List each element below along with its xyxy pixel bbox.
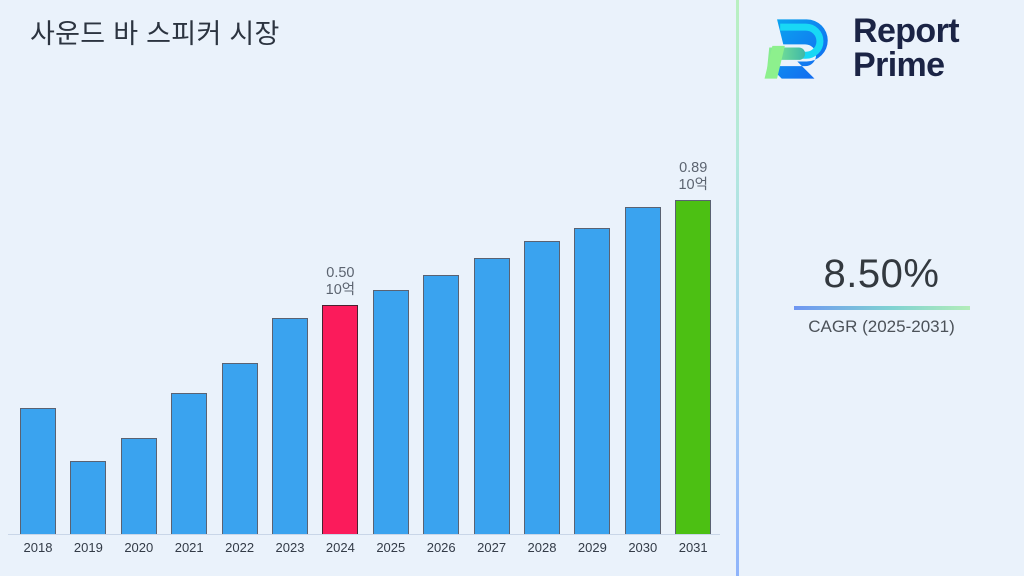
report-prime-r-logo-icon [763, 10, 841, 88]
brand-name: Report Prime [853, 15, 959, 82]
chart-panel: 사운드 바 스피커 시장 0.5010억0.8910억 201820192020… [0, 0, 737, 576]
cagr-divider-rule [794, 306, 970, 310]
brand-name-line2: Prime [853, 46, 945, 84]
bar-value-label-2031: 0.8910억 [678, 160, 707, 195]
bar-2018[interactable] [20, 408, 56, 534]
bar-rect-2031[interactable] [675, 200, 711, 534]
brand-panel: Report Prime 8.50% CAGR (2025-2031) [739, 0, 1024, 576]
bar-rect-2020[interactable] [121, 438, 157, 534]
x-tick-2026: 2026 [423, 540, 459, 555]
cagr-value: 8.50% [739, 252, 1024, 297]
bar-2022[interactable] [222, 363, 258, 534]
bar-2023[interactable] [272, 318, 308, 534]
x-tick-2025: 2025 [373, 540, 409, 555]
bar-rect-2023[interactable] [272, 318, 308, 534]
bar-value-label-2024: 0.5010억 [326, 265, 355, 300]
bar-rect-2025[interactable] [373, 290, 409, 534]
brand-logo-block: Report Prime [763, 10, 959, 88]
bar-value-unit-2024: 10억 [326, 282, 355, 300]
x-tick-2027: 2027 [474, 540, 510, 555]
x-tick-2024: 2024 [322, 540, 358, 555]
x-tick-2030: 2030 [625, 540, 661, 555]
bar-2028[interactable] [524, 241, 560, 534]
bar-value-number-2024: 0.50 [326, 265, 355, 283]
bar-rect-2026[interactable] [423, 275, 459, 534]
bar-rect-2022[interactable] [222, 363, 258, 534]
axis-baseline [8, 534, 720, 535]
bar-value-number-2031: 0.89 [678, 160, 707, 178]
bar-rect-2030[interactable] [625, 207, 661, 534]
x-tick-2023: 2023 [272, 540, 308, 555]
x-tick-2021: 2021 [171, 540, 207, 555]
x-tick-2031: 2031 [675, 540, 711, 555]
bar-2020[interactable] [121, 438, 157, 534]
bar-2030[interactable] [625, 207, 661, 534]
bar-rect-2018[interactable] [20, 408, 56, 534]
bar-2024[interactable]: 0.5010억 [322, 265, 358, 534]
x-tick-2028: 2028 [524, 540, 560, 555]
bar-rect-2024[interactable] [322, 305, 358, 534]
x-tick-2022: 2022 [222, 540, 258, 555]
page-title: 사운드 바 스피커 시장 [30, 12, 280, 51]
cagr-caption: CAGR (2025-2031) [739, 317, 1024, 337]
bar-2027[interactable] [474, 258, 510, 534]
x-tick-2029: 2029 [574, 540, 610, 555]
bar-2021[interactable] [171, 393, 207, 534]
x-tick-2019: 2019 [70, 540, 106, 555]
x-tick-2020: 2020 [121, 540, 157, 555]
bar-2025[interactable] [373, 290, 409, 534]
bar-2029[interactable] [574, 228, 610, 534]
cagr-block: 8.50% CAGR (2025-2031) [739, 252, 1024, 337]
bar-rect-2029[interactable] [574, 228, 610, 534]
brand-name-line1: Report [853, 12, 959, 50]
bar-rect-2021[interactable] [171, 393, 207, 534]
bar-rect-2019[interactable] [70, 461, 106, 534]
bar-value-unit-2031: 10억 [678, 177, 707, 195]
bar-2019[interactable] [70, 461, 106, 534]
x-tick-2018: 2018 [20, 540, 56, 555]
bar-2031[interactable]: 0.8910억 [675, 160, 711, 534]
bar-2026[interactable] [423, 275, 459, 534]
bar-rect-2027[interactable] [474, 258, 510, 534]
chart-screenshot-root: 사운드 바 스피커 시장 0.5010억0.8910억 201820192020… [0, 0, 1024, 576]
bar-rect-2028[interactable] [524, 241, 560, 534]
